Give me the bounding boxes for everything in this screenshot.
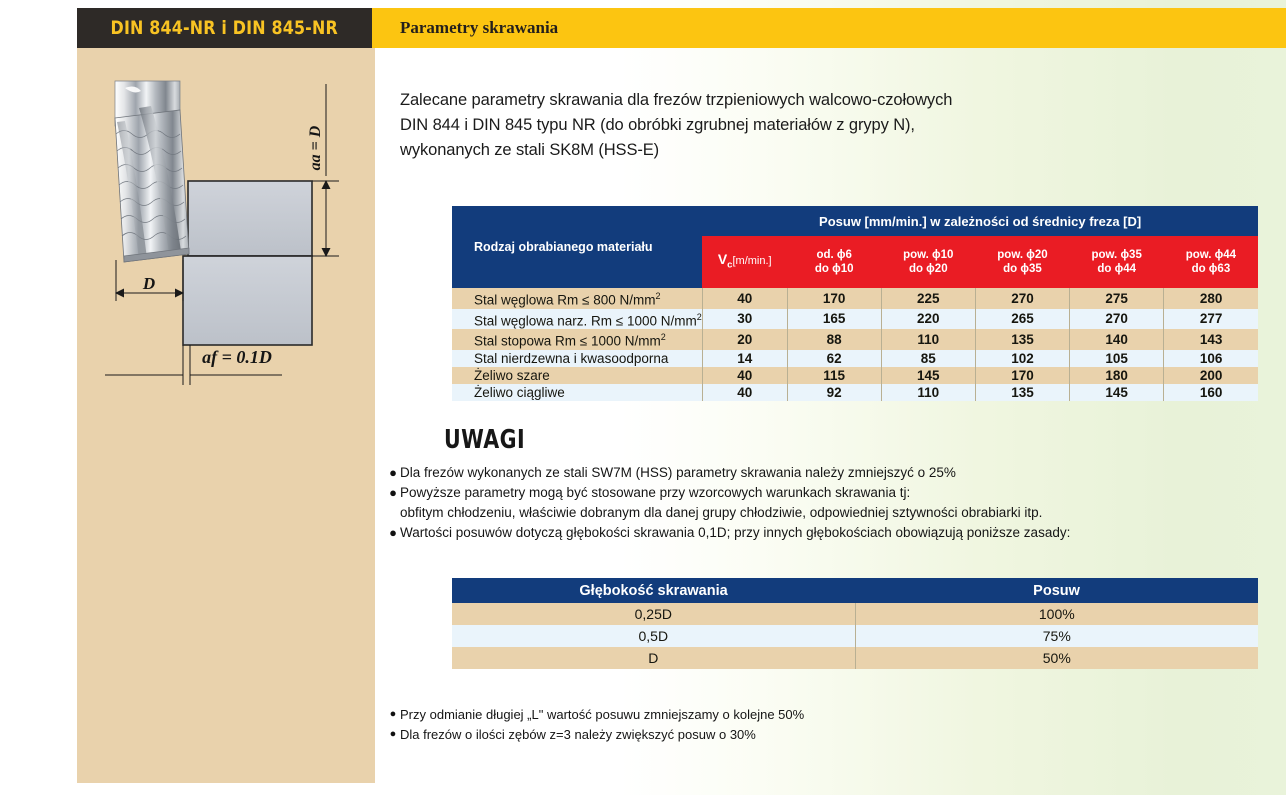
cell-feed-3: 140 xyxy=(1070,329,1164,350)
table-row: 0,25D100% xyxy=(452,603,1258,625)
bottom-note-text: Dla frezów o ilości zębów z=3 należy zwi… xyxy=(400,725,756,744)
bottom-note-text: Przy odmianie długiej „L" wartość posuwu… xyxy=(400,705,804,724)
label-diameter: D xyxy=(142,274,155,293)
note-item: ●obfitym chłodzeniu, właściwie dobranym … xyxy=(386,503,1266,522)
header-diameter-4: pow. ϕ44 do ϕ63 xyxy=(1164,236,1258,288)
note-item: ●Powyższe parametry mogą być stosowane p… xyxy=(386,483,1266,502)
header-diameter-0-line2: do ϕ10 xyxy=(787,262,881,276)
cell-material: Stal stopowa Rm ≤ 1000 N/mm2 xyxy=(452,329,702,350)
note-item: ●Wartości posuwów dotyczą głębokości skr… xyxy=(386,523,1266,542)
bullet-icon: ● xyxy=(386,523,400,542)
intro-line-2: DIN 844 i DIN 845 typu NR (do obróbki zg… xyxy=(400,113,1266,138)
cell-feed-1: 225 xyxy=(881,288,975,309)
cell-material: Żeliwo ciągliwe xyxy=(452,384,702,401)
intro-line-3: wykonanych ze stali SK8M (HSS-E) xyxy=(400,138,1266,163)
cell-feed-4: 200 xyxy=(1164,367,1258,384)
cell-material: Stal węglowa Rm ≤ 800 N/mm2 xyxy=(452,288,702,309)
bottom-note-item: ●Przy odmianie długiej „L" wartość posuw… xyxy=(386,705,1266,724)
workpiece-block xyxy=(183,181,312,345)
cell-material: Stal nierdzewna i kwasoodporna xyxy=(452,350,702,367)
cell-feed-1: 110 xyxy=(881,329,975,350)
cell-feed-2: 135 xyxy=(975,384,1069,401)
cell-vc: 20 xyxy=(702,329,787,350)
notes-list: ●Dla frezów wykonanych ze stali SW7M (HS… xyxy=(386,463,1266,543)
note-text: Powyższe parametry mogą być stosowane pr… xyxy=(400,483,910,502)
cell-feed-1: 85 xyxy=(881,350,975,367)
cell-feed-0: 115 xyxy=(787,367,881,384)
standard-label: DIN 844-NR i DIN 845-NR xyxy=(111,17,338,39)
header-depth: Głębokość skrawania xyxy=(452,578,855,603)
header-diameter-3-line1: pow. ϕ35 xyxy=(1070,248,1164,262)
cell-feed: 50% xyxy=(855,647,1258,669)
bullet-icon: ● xyxy=(386,483,400,502)
cell-depth: D xyxy=(452,647,855,669)
header-diameter-3: pow. ϕ35 do ϕ44 xyxy=(1070,236,1164,288)
table-row: Stal węglowa Rm ≤ 800 N/mm24017022527027… xyxy=(452,288,1258,309)
cell-feed-3: 145 xyxy=(1070,384,1164,401)
superscript-square: 2 xyxy=(655,291,660,301)
cell-material: Żeliwo szare xyxy=(452,367,702,384)
cell-feed-2: 102 xyxy=(975,350,1069,367)
cell-feed-0: 88 xyxy=(787,329,881,350)
cell-depth: 0,5D xyxy=(452,625,855,647)
header-diameter-4-line2: do ϕ63 xyxy=(1164,262,1258,276)
cutting-parameters-table: Rodzaj obrabianego materiału Posuw [mm/m… xyxy=(452,206,1258,401)
table-row: D50% xyxy=(452,647,1258,669)
bottom-note-item: ●Dla frezów o ilości zębów z=3 należy zw… xyxy=(386,725,1266,744)
end-mill-tool xyxy=(115,81,189,262)
bullet-icon: ● xyxy=(386,725,400,744)
cutting-parameters-body: Stal węglowa Rm ≤ 800 N/mm24017022527027… xyxy=(452,288,1258,401)
table-row: Żeliwo ciągliwe4092110135145160 xyxy=(452,384,1258,401)
table-row: Stal węglowa narz. Rm ≤ 1000 N/mm2301652… xyxy=(452,309,1258,330)
note-item: ●Dla frezów wykonanych ze stali SW7M (HS… xyxy=(386,463,1266,482)
standard-badge: DIN 844-NR i DIN 845-NR xyxy=(77,8,372,48)
cell-feed: 75% xyxy=(855,625,1258,647)
cell-feed-1: 145 xyxy=(881,367,975,384)
cell-vc: 40 xyxy=(702,367,787,384)
cell-feed-4: 143 xyxy=(1164,329,1258,350)
bullet-icon: ● xyxy=(386,705,400,724)
header-diameter-1-line2: do ϕ20 xyxy=(881,262,975,276)
header-feed: Posuw xyxy=(855,578,1258,603)
table-row: Stal stopowa Rm ≤ 1000 N/mm2208811013514… xyxy=(452,329,1258,350)
illustration-panel: aa = D D af = 0.1D xyxy=(77,48,375,783)
depth-feed-body: 0,25D100%0,5D75%D50% xyxy=(452,603,1258,669)
cell-feed-3: 180 xyxy=(1070,367,1164,384)
cell-feed-0: 92 xyxy=(787,384,881,401)
table-row: Stal nierdzewna i kwasoodporna1462851021… xyxy=(452,350,1258,367)
cell-feed-2: 170 xyxy=(975,367,1069,384)
cell-feed: 100% xyxy=(855,603,1258,625)
header-diameter-1-line1: pow. ϕ10 xyxy=(881,248,975,262)
vc-symbol: V xyxy=(718,251,727,267)
bullet-icon: ● xyxy=(386,463,400,482)
cell-feed-3: 105 xyxy=(1070,350,1164,367)
cutting-geometry-diagram: aa = D D af = 0.1D xyxy=(77,48,375,408)
cell-vc: 40 xyxy=(702,288,787,309)
header-diameter-2-line1: pow. ϕ20 xyxy=(975,248,1069,262)
cell-feed-4: 277 xyxy=(1164,309,1258,330)
table-row: Żeliwo szare40115145170180200 xyxy=(452,367,1258,384)
cell-feed-4: 280 xyxy=(1164,288,1258,309)
cell-feed-0: 165 xyxy=(787,309,881,330)
label-radial-depth: af = 0.1D xyxy=(202,347,272,367)
page-title: Parametry skrawania xyxy=(400,18,558,38)
note-text: Dla frezów wykonanych ze stali SW7M (HSS… xyxy=(400,463,956,482)
header-diameter-2: pow. ϕ20 do ϕ35 xyxy=(975,236,1069,288)
depth-feed-table: Głębokość skrawania Posuw 0,25D100%0,5D7… xyxy=(452,578,1258,669)
header-feed-span: Posuw [mm/min.] w zależności od średnicy… xyxy=(702,206,1258,236)
cell-feed-0: 170 xyxy=(787,288,881,309)
table-header-row-top: Rodzaj obrabianego materiału Posuw [mm/m… xyxy=(452,206,1258,236)
header-diameter-4-line1: pow. ϕ44 xyxy=(1164,248,1258,262)
cell-vc: 30 xyxy=(702,309,787,330)
bottom-notes-list: ●Przy odmianie długiej „L" wartość posuw… xyxy=(386,705,1266,745)
note-text: Wartości posuwów dotyczą głębokości skra… xyxy=(400,523,1070,542)
label-axial-depth: aa = D xyxy=(307,125,324,170)
note-text: obfitym chłodzeniu, właściwie dobranym d… xyxy=(400,503,1042,522)
header-vc: Vc[m/min.] xyxy=(702,236,787,288)
header-diameter-0: od. ϕ6 do ϕ10 xyxy=(787,236,881,288)
vc-unit: [m/min.] xyxy=(732,255,771,267)
cell-feed-4: 160 xyxy=(1164,384,1258,401)
superscript-square: 2 xyxy=(661,332,666,342)
cell-feed-2: 270 xyxy=(975,288,1069,309)
main-content: Zalecane parametry skrawania dla frezów … xyxy=(396,60,1266,163)
cell-vc: 14 xyxy=(702,350,787,367)
table-row: 0,5D75% xyxy=(452,625,1258,647)
cell-feed-2: 265 xyxy=(975,309,1069,330)
cell-feed-3: 270 xyxy=(1070,309,1164,330)
superscript-square: 2 xyxy=(697,312,702,322)
header-diameter-2-line2: do ϕ35 xyxy=(975,262,1069,276)
cell-material: Stal węglowa narz. Rm ≤ 1000 N/mm2 xyxy=(452,309,702,330)
header-diameter-0-line1: od. ϕ6 xyxy=(787,248,881,262)
depth-table-header-row: Głębokość skrawania Posuw xyxy=(452,578,1258,603)
intro-line-1: Zalecane parametry skrawania dla frezów … xyxy=(400,88,1266,113)
cell-feed-4: 106 xyxy=(1164,350,1258,367)
cell-feed-1: 110 xyxy=(881,384,975,401)
cell-feed-1: 220 xyxy=(881,309,975,330)
header-diameter-3-line2: do ϕ44 xyxy=(1070,262,1164,276)
cell-feed-2: 135 xyxy=(975,329,1069,350)
header-material: Rodzaj obrabianego materiału xyxy=(452,206,702,288)
cell-feed-3: 275 xyxy=(1070,288,1164,309)
page-title-bar: Parametry skrawania xyxy=(372,8,1286,48)
intro-paragraph: Zalecane parametry skrawania dla frezów … xyxy=(400,88,1266,163)
cell-vc: 40 xyxy=(702,384,787,401)
cell-depth: 0,25D xyxy=(452,603,855,625)
notes-heading: UWAGI xyxy=(444,425,525,455)
cell-feed-0: 62 xyxy=(787,350,881,367)
header-diameter-1: pow. ϕ10 do ϕ20 xyxy=(881,236,975,288)
